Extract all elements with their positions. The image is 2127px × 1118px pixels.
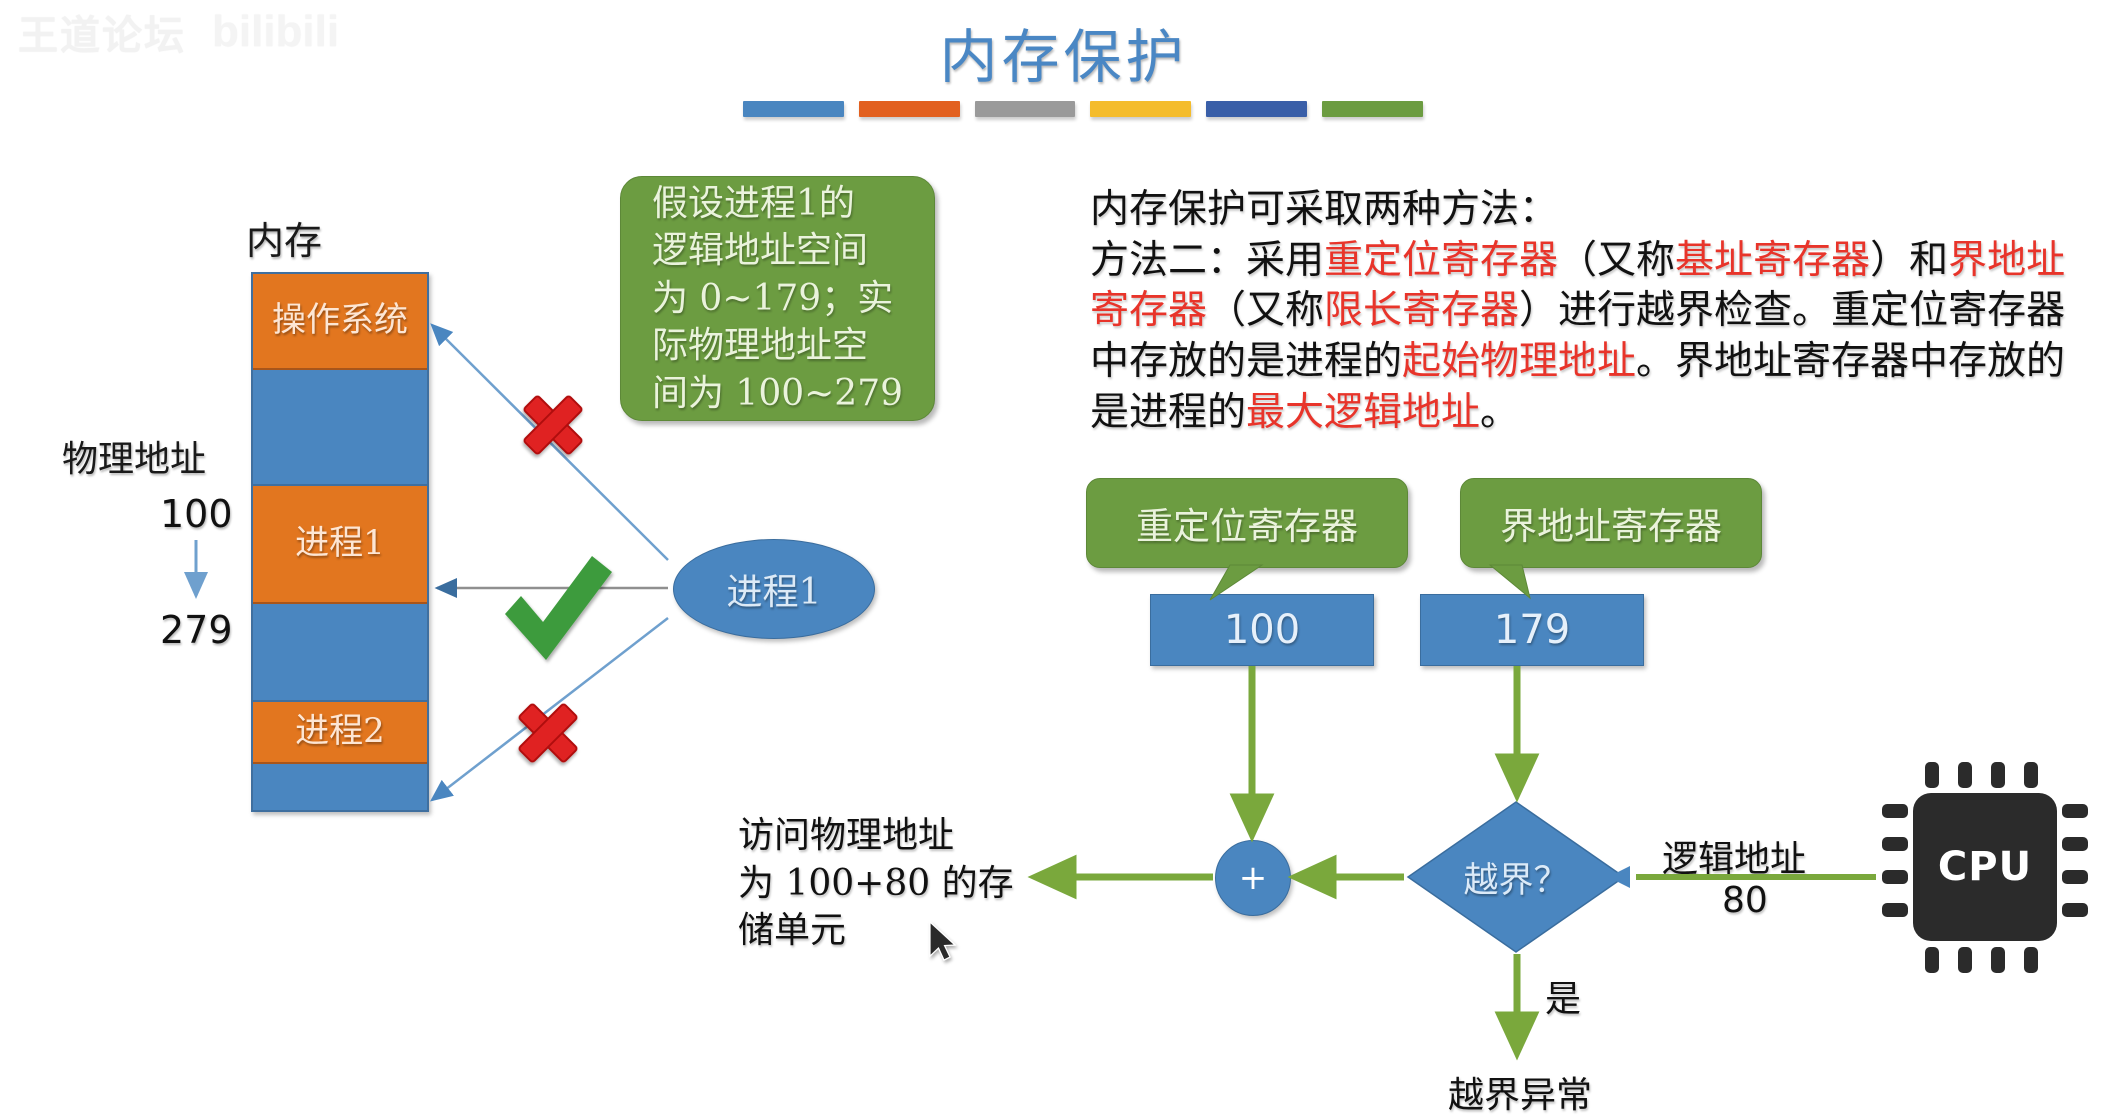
page-title: 内存保护 [0, 10, 2127, 94]
cpu-pin-bottom-4 [2024, 947, 2038, 973]
access-line-3: 储单元 [738, 907, 1014, 955]
assumption-callout: 假设进程1的 逻辑地址空间 为 0~179；实 际物理地址空 间为 100~27… [620, 176, 935, 421]
title-bar-navy [1206, 101, 1307, 117]
cpu-icon: CPU [1880, 760, 2090, 975]
title-bar-green [1322, 101, 1423, 117]
exp-seg-9-highlight: 限长寄存器 [1324, 288, 1519, 333]
exp-seg-13: 。界地址寄 [1636, 339, 1831, 384]
logical-address-label: 逻辑地址 [1662, 830, 1806, 882]
cpu-pin-right-4 [2062, 903, 2088, 917]
exp-seg-2-highlight: 重定位寄存器 [1324, 238, 1558, 283]
out-of-bounds-exception-label: 越界异常 [1448, 1066, 1592, 1118]
callout-line-5: 间为 100~279 [652, 370, 903, 418]
cpu-pin-bottom-1 [1925, 947, 1939, 973]
cpu-pin-bottom-2 [1958, 947, 1972, 973]
cpu-pin-left-3 [1882, 870, 1908, 884]
memory-column: 操作系统 进程1 进程2 [251, 272, 429, 812]
access-result-text: 访问物理地址 为 100+80 的存 储单元 [738, 812, 1014, 955]
cpu-pin-left-4 [1882, 903, 1908, 917]
check-mark [505, 556, 612, 660]
exp-seg-4-highlight: 基址寄存器 [1675, 238, 1870, 283]
physical-address-end: 279 [160, 608, 233, 652]
exp-seg-6-highlight: 界 [1948, 238, 1987, 283]
cpu-pin-top-3 [1991, 762, 2005, 788]
cpu-body-label: CPU [1913, 793, 2057, 941]
exp-seg-1: 方法二：采用 [1090, 238, 1324, 283]
cpu-pin-top-1 [1925, 762, 1939, 788]
slide-canvas: 王道论坛 bilibili 内存保护 内存 操作系统 进程1 进程2 物理地址 … [0, 0, 2127, 1118]
limit-register-value: 179 [1420, 594, 1644, 666]
physical-address-label: 物理地址 [62, 430, 206, 482]
bounds-check-label: 越界？ [1406, 800, 1626, 954]
cpu-pin-right-3 [2062, 870, 2088, 884]
exp-seg-5: ）和 [1870, 238, 1948, 283]
memory-block-free-2 [253, 604, 427, 702]
cpu-pin-left-1 [1882, 804, 1908, 818]
logical-address-value: 80 [1722, 880, 1768, 921]
access-line-1: 访问物理地址 [738, 812, 1014, 860]
memory-block-process1: 进程1 [253, 486, 427, 604]
callout-line-1: 假设进程1的 [652, 180, 903, 228]
exp-seg-3: （又称 [1558, 238, 1675, 283]
explanation-line-1: 内存保护可采取两种方法： [1090, 185, 2070, 236]
memory-block-process2: 进程2 [253, 702, 427, 764]
cpu-pin-top-4 [2024, 762, 2038, 788]
cpu-pin-right-2 [2062, 837, 2088, 851]
exp-seg-15-highlight: 最大逻辑地址 [1246, 390, 1480, 435]
title-bar-orange [859, 101, 960, 117]
process1-node: 进程1 [673, 539, 875, 639]
memory-block-free-1 [253, 370, 427, 486]
bounds-check-decision: 越界？ [1406, 800, 1626, 954]
memory-caption: 内存 [246, 210, 322, 265]
cpu-pin-bottom-3 [1991, 947, 2005, 973]
physical-address-start: 100 [160, 492, 233, 536]
title-bar-gray [975, 101, 1076, 117]
access-line-2: 为 100+80 的存 [738, 860, 1014, 908]
exp-seg-10: ）进行越界检查。重定 [1519, 288, 1909, 333]
callout-line-2: 逻辑地址空间 [652, 227, 903, 275]
title-bar-yellow [1090, 101, 1191, 117]
explanation-text: 内存保护可采取两种方法： 方法二：采用重定位寄存器（又称基址寄存器）和界地址寄存… [1090, 185, 2070, 438]
callout-line-4: 际物理地址空 [652, 322, 903, 370]
exp-seg-8: （又称 [1207, 288, 1324, 333]
cpu-pin-right-1 [2062, 804, 2088, 818]
exp-seg-16: 。 [1480, 390, 1519, 435]
memory-block-free-3 [253, 764, 427, 810]
cross-mark-bottom [503, 688, 594, 779]
yes-branch-label: 是 [1545, 970, 1581, 1022]
exp-seg-12-highlight: 起始物理地址 [1402, 339, 1636, 384]
relocation-register-callout: 重定位寄存器 [1086, 478, 1408, 568]
limit-register-callout: 界地址寄存器 [1460, 478, 1762, 568]
callout-line-3: 为 0~179；实 [652, 275, 903, 323]
relocation-register-value: 100 [1150, 594, 1374, 666]
assumption-callout-text: 假设进程1的 逻辑地址空间 为 0~179；实 际物理地址空 间为 100~27… [652, 180, 903, 418]
cpu-pin-top-2 [1958, 762, 1972, 788]
adder-node: + [1215, 840, 1291, 916]
title-bar-blue [743, 101, 844, 117]
memory-block-os: 操作系统 [253, 274, 427, 370]
explanation-paragraph: 方法二：采用重定位寄存器（又称基址寄存器）和界地址寄存器（又称限长寄存器）进行越… [1090, 236, 2070, 439]
title-decoration-bars [743, 101, 1423, 117]
cpu-pin-left-2 [1882, 837, 1908, 851]
cross-mark-top [508, 380, 599, 471]
